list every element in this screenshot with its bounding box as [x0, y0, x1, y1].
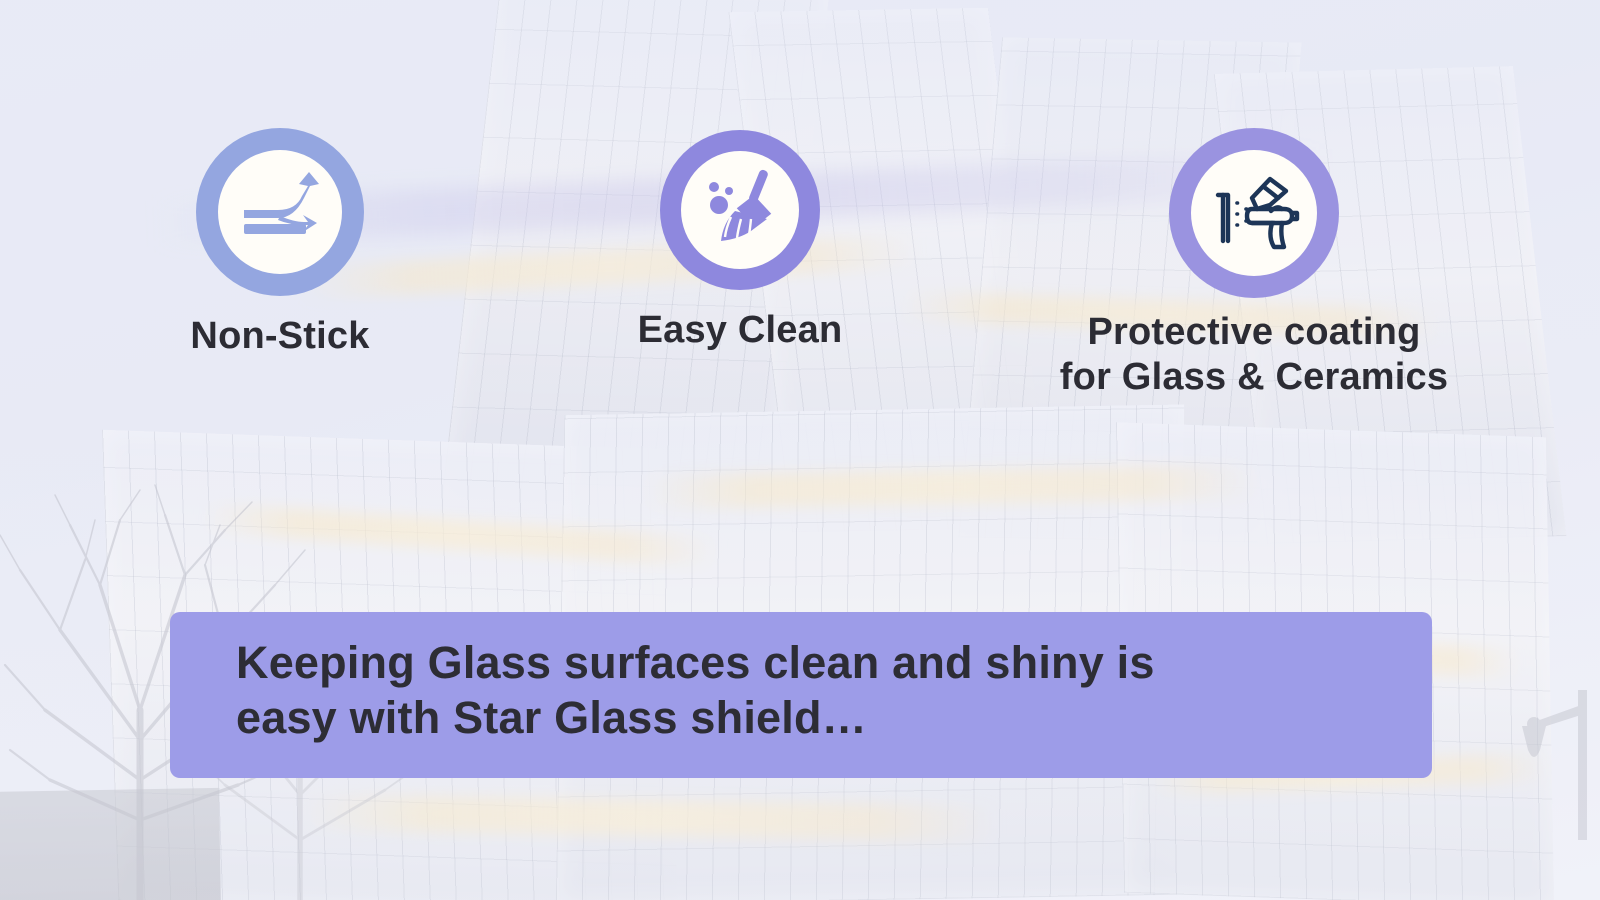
- feature-easy-clean: Easy Clean: [560, 130, 920, 353]
- non-stick-surface-icon: [236, 166, 324, 259]
- badge-inner-circle: [681, 151, 799, 269]
- feature-non-stick: Non-Stick: [90, 128, 470, 359]
- badge-easy-clean: [660, 130, 820, 290]
- feature-protective-coating: Protective coating for Glass & Ceramics: [1000, 128, 1508, 400]
- feature-label-protective-coating: Protective coating for Glass & Ceramics: [1000, 310, 1508, 400]
- broom-sweep-icon: [697, 165, 783, 256]
- promo-banner: Non-Stick: [0, 0, 1600, 900]
- feature-label-non-stick: Non-Stick: [90, 314, 470, 359]
- badge-non-stick: [196, 128, 364, 296]
- content-layer: Non-Stick: [0, 0, 1600, 900]
- badge-inner-circle: [218, 150, 342, 274]
- spray-gun-icon: [1208, 165, 1300, 262]
- tagline-text: Keeping Glass surfaces clean and shiny i…: [236, 636, 1392, 746]
- badge-protective-coating: [1169, 128, 1339, 298]
- badge-inner-circle: [1191, 150, 1317, 276]
- feature-label-easy-clean: Easy Clean: [560, 308, 920, 353]
- tagline-banner: Keeping Glass surfaces clean and shiny i…: [170, 612, 1432, 778]
